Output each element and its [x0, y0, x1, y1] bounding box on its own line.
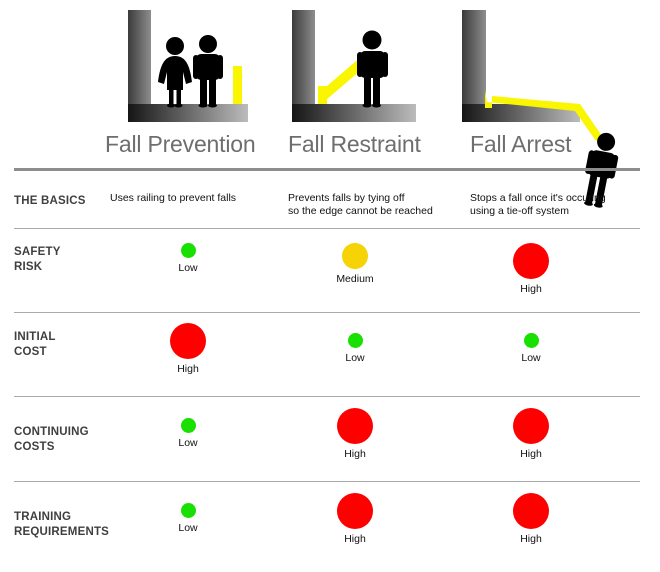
rating-dot-low — [524, 333, 539, 348]
floor-shape — [292, 104, 416, 122]
cell-initial-cost-fall-prevention: High — [118, 323, 258, 375]
table-row-training-requirements: TRAININGREQUIREMENTS Low High High — [0, 498, 660, 562]
cell-safety-risk-fall-restraint: Medium — [285, 243, 425, 285]
rating-label: High — [118, 363, 258, 375]
rating-dot-high — [513, 493, 549, 529]
column-title-fall-prevention: Fall Prevention — [105, 131, 255, 158]
fall-arrest-svg — [456, 8, 656, 193]
cell-safety-risk-fall-prevention: Low — [118, 243, 258, 274]
basics-text-fall-restraint: Prevents falls by tying offso the edge c… — [288, 192, 433, 218]
table-row-safety-risk: SAFETYRISK Low Medium High — [0, 243, 660, 307]
column-title-fall-restraint: Fall Restraint — [288, 131, 421, 158]
basics-text-fall-arrest: Stops a fall once it's occuringusing a t… — [470, 192, 606, 218]
cell-continuing-costs-fall-restraint: High — [285, 408, 425, 460]
column-title-fall-arrest: Fall Arrest — [470, 131, 571, 158]
cell-continuing-costs-fall-arrest: High — [461, 408, 601, 460]
rating-dot-low — [181, 243, 196, 258]
rating-dot-high — [513, 408, 549, 444]
header-divider — [14, 168, 640, 171]
cell-continuing-costs-fall-prevention: Low — [118, 418, 258, 449]
rating-label: High — [285, 533, 425, 545]
row-label-continuing-costs: CONTINUINGCOSTS — [14, 425, 114, 455]
basics-text-fall-prevention: Uses railing to prevent falls — [110, 192, 236, 205]
illustration-band — [0, 0, 660, 130]
rating-label: Low — [461, 352, 601, 364]
rating-dot-low — [181, 418, 196, 433]
rating-label: High — [461, 283, 601, 295]
person-female-icon — [158, 37, 192, 108]
row-label-the-basics: THE BASICS — [14, 194, 114, 209]
cell-initial-cost-fall-arrest: Low — [461, 333, 601, 364]
fall-restraint-svg — [288, 8, 420, 126]
rating-dot-medium — [342, 243, 368, 269]
illustration-fall-prevention — [120, 8, 252, 126]
row-divider-3 — [14, 396, 640, 397]
illustration-fall-restraint — [288, 8, 420, 126]
rating-label: High — [461, 533, 601, 545]
rating-dot-high — [337, 408, 373, 444]
cell-initial-cost-fall-restraint: Low — [285, 333, 425, 364]
person-male-icon — [357, 31, 388, 108]
cell-training-requirements-fall-arrest: High — [461, 493, 601, 545]
wall-shape — [462, 10, 486, 104]
row-label-training-requirements: TRAININGREQUIREMENTS — [14, 510, 114, 540]
rating-label: Low — [118, 262, 258, 274]
rating-dot-high — [513, 243, 549, 279]
column-headings: Fall Prevention Fall Restraint Fall Arre… — [0, 131, 660, 163]
cell-safety-risk-fall-arrest: High — [461, 243, 601, 295]
floor-shape — [128, 104, 248, 122]
row-divider-2 — [14, 312, 640, 313]
rating-label: Low — [118, 437, 258, 449]
row-divider-1 — [14, 228, 640, 229]
wall-shape — [292, 10, 315, 104]
illustration-fall-arrest — [456, 8, 588, 126]
rating-dot-high — [337, 493, 373, 529]
cell-training-requirements-fall-prevention: Low — [118, 503, 258, 534]
rating-label: High — [461, 448, 601, 460]
rating-dot-high — [170, 323, 206, 359]
rating-label: Low — [118, 522, 258, 534]
rating-label: Medium — [285, 273, 425, 285]
rating-dot-low — [181, 503, 196, 518]
row-divider-4 — [14, 481, 640, 482]
row-label-initial-cost: INITIALCOST — [14, 330, 114, 360]
cell-training-requirements-fall-restraint: High — [285, 493, 425, 545]
rating-label: High — [285, 448, 425, 460]
fall-prevention-svg — [120, 8, 252, 126]
person-male-icon — [193, 35, 223, 108]
table-row-continuing-costs: CONTINUINGCOSTS Low High High — [0, 413, 660, 477]
rating-label: Low — [285, 352, 425, 364]
table-row-the-basics: THE BASICS Uses railing to prevent falls… — [0, 192, 660, 228]
table-row-initial-cost: INITIALCOST High Low Low — [0, 328, 660, 392]
railing-shape — [233, 66, 242, 104]
wall-shape — [128, 10, 151, 104]
rating-dot-low — [348, 333, 363, 348]
row-label-safety-risk: SAFETYRISK — [14, 245, 114, 275]
